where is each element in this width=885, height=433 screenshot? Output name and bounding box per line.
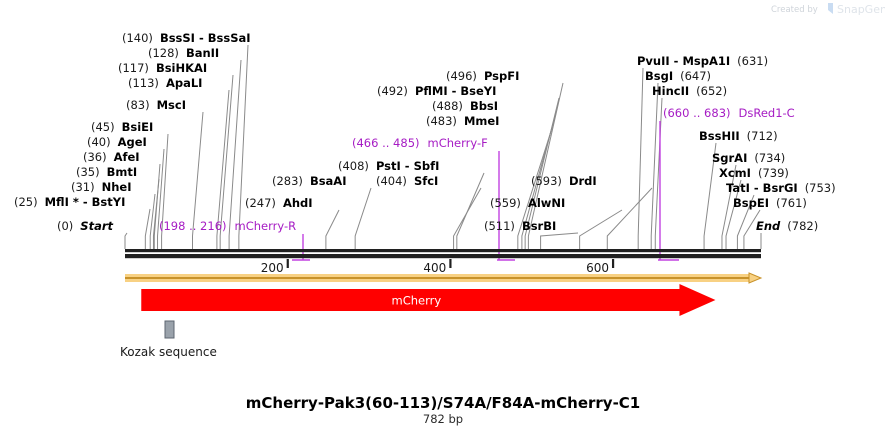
site-name: PvuII - MspA1I [637, 54, 730, 68]
site-position: (36) [83, 150, 107, 164]
restriction-site-label[interactable]: (83)MscI [126, 98, 186, 112]
restriction-site-label[interactable]: PvuII - MspA1I(631) [637, 54, 768, 68]
restriction-site-label[interactable]: BsgI(647) [645, 69, 711, 83]
site-name: MscI [157, 98, 186, 112]
site-position: (739) [758, 166, 789, 180]
site-name: BbsI [470, 99, 498, 113]
site-tick-line [541, 233, 578, 249]
site-tick-line [638, 68, 643, 249]
restriction-site-label[interactable]: (31)NheI [71, 180, 132, 194]
site-position: (31) [71, 180, 95, 194]
feature-label[interactable]: (198 .. 216)mCherry-R [159, 219, 296, 233]
restriction-site-label[interactable]: (117)BsiHKAI [118, 61, 207, 75]
site-position: (140) [122, 31, 153, 45]
site-tick-line [326, 210, 339, 249]
kozak-sequence-swatch[interactable] [165, 321, 174, 338]
restriction-site-label[interactable]: (40)AgeI [87, 135, 147, 149]
restriction-site-label[interactable]: (559)AlwNI [490, 196, 565, 210]
site-position: (753) [805, 181, 836, 195]
restriction-site-label[interactable]: (283)BsaAI [272, 174, 347, 188]
sequence-length: 782 bp [423, 412, 463, 426]
site-position: (593) [531, 174, 562, 188]
restriction-site-label[interactable]: (488)BbsI [432, 99, 498, 113]
site-name: DrdI [569, 174, 597, 188]
restriction-site-label[interactable]: (25)MflI * - BstYI [14, 195, 125, 209]
feature-label[interactable]: (466 .. 485)mCherry-F [352, 136, 488, 150]
site-name: BsiHKAI [156, 61, 207, 75]
site-position: (712) [747, 129, 778, 143]
site-name: XcmI [719, 166, 751, 180]
orf-arrow-label: mCherry [392, 294, 442, 308]
site-position: (113) [128, 76, 159, 90]
feature-label-text: mCherry-R [235, 219, 297, 233]
site-name: BssHII [699, 129, 740, 143]
site-position: (45) [91, 120, 115, 134]
snapgene-watermark: Created by SnapGene [771, 3, 885, 16]
site-position: (35) [76, 165, 100, 179]
site-tick-line [454, 188, 481, 249]
site-position: (483) [426, 114, 457, 128]
site-position: (559) [490, 196, 521, 210]
orf-arrow-mcherry: mCherry [141, 284, 715, 316]
site-name: BspEI [733, 196, 769, 210]
restriction-site-label[interactable]: (483)MmeI [426, 114, 499, 128]
site-position: (734) [754, 151, 785, 165]
site-name: PspFI [484, 69, 519, 83]
site-name: AgeI [118, 135, 147, 149]
site-position: (83) [126, 98, 150, 112]
site-position: (128) [148, 46, 179, 60]
restriction-site-label[interactable]: (36)AfeI [83, 150, 140, 164]
site-name: BsgI [645, 69, 673, 83]
snapgene-logo-icon [828, 3, 833, 14]
site-position: (647) [680, 69, 711, 83]
restriction-site-label[interactable]: (247)AhdI [245, 196, 313, 210]
restriction-site-label[interactable]: (113)ApaLI [128, 76, 202, 90]
site-position: (283) [272, 174, 303, 188]
restriction-site-label[interactable]: BspEI(761) [733, 196, 807, 210]
title-block: mCherry-Pak3(60-113)/S74A/F84A-mCherry-C… [246, 394, 640, 426]
site-position: (40) [87, 135, 111, 149]
site-name: TatI - BsrGI [726, 181, 798, 195]
site-tick-line [607, 188, 652, 249]
ruler-tick-mark [287, 259, 289, 268]
ruler-tick-mark [612, 259, 614, 268]
site-name: BanII [186, 46, 219, 60]
site-tick-line [125, 233, 127, 249]
site-labels: (140)BssSI - BssSaI(128)BanII(117)BsiHKA… [14, 31, 836, 233]
site-position: (511) [484, 219, 515, 233]
feature-label[interactable]: (660 .. 683)DsRed1-C [663, 106, 795, 120]
site-name: BssSI - BssSaI [160, 31, 251, 45]
site-position: (404) [376, 174, 407, 188]
legend: Kozak sequence [120, 321, 217, 359]
restriction-site-label[interactable]: (404)SfcI [376, 174, 438, 188]
site-name: AfeI [114, 150, 140, 164]
site-name: PstI - SbfI [376, 159, 439, 173]
site-position: (652) [696, 84, 727, 98]
restriction-site-label[interactable]: (492)PflMI - BseYI [377, 84, 496, 98]
feature-label-text: (466 .. 485) [352, 136, 420, 150]
site-name: BsiEI [122, 120, 154, 134]
site-name: SfcI [414, 174, 438, 188]
ruler-tick-mark [449, 259, 451, 268]
site-position: (782) [787, 219, 818, 233]
site-tick-line [355, 188, 371, 249]
feature-label-text: mCherry-F [428, 136, 488, 150]
site-tick-line [580, 210, 622, 249]
backbone-top-strand [125, 249, 761, 252]
site-name: ApaLI [166, 76, 203, 90]
restriction-site-label[interactable]: (496)PspFI [446, 69, 519, 83]
backbone-bottom-strand [125, 254, 761, 258]
site-tick-line [457, 173, 484, 249]
site-position: (761) [776, 196, 807, 210]
orf-line-core [125, 277, 750, 279]
sequence-backbone [125, 249, 761, 258]
orf-line-arrowhead [749, 273, 761, 283]
ruler: 200400600 [261, 259, 614, 275]
site-name: End [756, 219, 781, 233]
site-name: BsrBI [522, 219, 556, 233]
restriction-site-label[interactable]: HincII(652) [652, 84, 727, 98]
page-title: mCherry-Pak3(60-113)/S74A/F84A-mCherry-C… [246, 394, 640, 412]
restriction-site-label[interactable]: (45)BsiEI [91, 120, 153, 134]
restriction-site-label[interactable]: (593)DrdI [531, 174, 597, 188]
restriction-site-label[interactable]: (0)Start [57, 219, 114, 233]
site-position: (488) [432, 99, 463, 113]
feature-label-text: DsRed1-C [739, 106, 795, 120]
restriction-site-label[interactable]: (35)BmtI [76, 165, 137, 179]
site-position: (496) [446, 69, 477, 83]
site-position: (117) [118, 61, 149, 75]
site-name: MmeI [464, 114, 500, 128]
site-name: HincII [652, 84, 689, 98]
site-name: Start [80, 219, 113, 233]
watermark-prefix: Created by [771, 5, 818, 15]
site-position: (25) [14, 195, 38, 209]
kozak-sequence-label: Kozak sequence [120, 345, 217, 359]
restriction-site-label[interactable]: XcmI(739) [719, 166, 789, 180]
site-name: MflI * - BstYI [45, 195, 126, 209]
restriction-site-label[interactable]: (408)PstI - SbfI [338, 159, 439, 173]
restriction-site-label[interactable]: BssHII(712) [699, 129, 778, 143]
ruler-tick-label: 600 [586, 261, 609, 275]
site-position: (0) [57, 219, 73, 233]
site-position: (631) [737, 54, 768, 68]
site-position: (408) [338, 159, 369, 173]
site-name: PflMI - BseYI [415, 84, 496, 98]
feature-label-text: (198 .. 216) [159, 219, 227, 233]
restriction-site-label[interactable]: (511)BsrBI [484, 219, 556, 233]
site-tick-line [651, 83, 658, 249]
ruler-tick-label: 200 [261, 261, 284, 275]
map-canvas: Created by SnapGene 200400600 mCherry (1… [0, 0, 885, 433]
site-name: BmtI [107, 165, 138, 179]
ruler-tick-label: 400 [423, 261, 446, 275]
watermark-brand: SnapGene [837, 3, 885, 16]
orf-direction-line [125, 273, 761, 283]
site-position: (247) [245, 196, 276, 210]
restriction-site-label[interactable]: TatI - BsrGI(753) [726, 181, 836, 195]
site-name: BsaAI [310, 174, 347, 188]
site-name: AlwNI [528, 196, 565, 210]
site-tick-line [158, 149, 164, 249]
feature-label-text: (660 .. 683) [663, 106, 731, 120]
site-name: SgrAI [712, 151, 747, 165]
restriction-site-label[interactable]: (140)BssSI - BssSaI [122, 31, 251, 45]
restriction-site-label[interactable]: (128)BanII [148, 46, 219, 60]
site-name: AhdI [283, 196, 313, 210]
site-position: (492) [377, 84, 408, 98]
restriction-site-label[interactable]: End(782) [756, 219, 818, 233]
snapgene-sequence-map: Created by SnapGene 200400600 mCherry (1… [0, 0, 885, 433]
site-tick-line [145, 209, 150, 249]
site-name: NheI [102, 180, 132, 194]
restriction-site-label[interactable]: SgrAI(734) [712, 151, 785, 165]
